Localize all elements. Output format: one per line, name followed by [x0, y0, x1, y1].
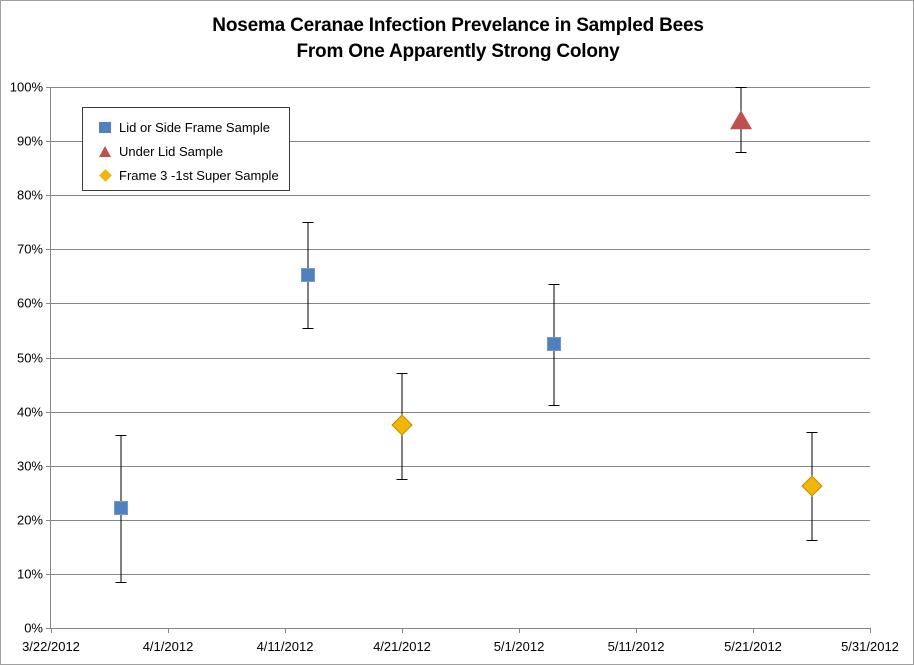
legend-item[interactable]: Frame 3 -1st Super Sample — [95, 163, 289, 187]
x-axis-label: 4/11/2012 — [257, 639, 314, 654]
y-axis-label: 40% — [17, 404, 43, 419]
data-point-marker[interactable] — [114, 501, 128, 515]
y-axis-label: 60% — [17, 296, 43, 311]
error-bar-cap — [736, 87, 747, 88]
x-axis-label: 5/31/2012 — [841, 639, 899, 654]
x-axis-tick — [753, 628, 754, 633]
gridline-horizontal — [51, 195, 870, 196]
legend-diamond-icon — [95, 171, 115, 180]
data-point-marker[interactable] — [391, 415, 412, 436]
y-axis-label: 70% — [17, 242, 43, 257]
y-axis-label: 90% — [17, 134, 43, 149]
x-axis-tick — [636, 628, 637, 633]
x-axis-tick — [519, 628, 520, 633]
legend-swatch-shape — [99, 122, 111, 133]
error-bar-cap — [806, 540, 817, 541]
y-axis-label: 50% — [17, 350, 43, 365]
chart-title-line-1: Nosema Ceranae Infection Prevelance in S… — [212, 15, 703, 36]
y-axis-tick — [46, 466, 51, 467]
legend-item[interactable]: Under Lid Sample — [95, 139, 289, 163]
y-axis-tick — [46, 574, 51, 575]
error-bar-cap — [397, 479, 408, 480]
data-point-marker[interactable] — [547, 337, 561, 351]
error-bar-cap — [116, 582, 127, 583]
legend-square-icon — [95, 122, 115, 133]
legend-triangle-icon — [95, 146, 115, 157]
x-axis-label: 3/22/2012 — [22, 639, 80, 654]
y-axis-tick — [46, 249, 51, 250]
gridline-horizontal — [51, 412, 870, 413]
data-point-marker[interactable] — [801, 476, 822, 497]
y-axis-tick — [46, 87, 51, 88]
error-bar-cap — [549, 284, 560, 285]
x-axis-label: 5/11/2012 — [608, 639, 665, 654]
error-bar-cap — [303, 328, 314, 329]
y-axis-tick — [46, 195, 51, 196]
error-bar-cap — [397, 373, 408, 374]
legend-item-label: Frame 3 -1st Super Sample — [119, 168, 279, 183]
x-axis-tick — [285, 628, 286, 633]
error-bar-cap — [116, 435, 127, 436]
y-axis-label: 10% — [17, 566, 43, 581]
y-axis-tick — [46, 358, 51, 359]
y-axis-label: 0% — [24, 621, 43, 636]
y-axis-tick — [46, 141, 51, 142]
x-axis-tick — [870, 628, 871, 633]
legend-item-label: Lid or Side Frame Sample — [119, 120, 270, 135]
x-axis-tick — [51, 628, 52, 633]
error-bar-cap — [549, 405, 560, 406]
chart-title: Nosema Ceranae Infection Prevelance in S… — [1, 13, 914, 65]
error-bar-cap — [303, 222, 314, 223]
y-axis-label: 100% — [10, 80, 43, 95]
gridline-horizontal — [51, 358, 870, 359]
gridline-horizontal — [51, 303, 870, 304]
chart-container: Nosema Ceranae Infection Prevelance in S… — [0, 0, 914, 665]
x-axis-label: 4/1/2012 — [143, 639, 194, 654]
y-axis-tick — [46, 303, 51, 304]
x-axis-tick — [402, 628, 403, 633]
y-axis-label: 20% — [17, 512, 43, 527]
y-axis-tick — [46, 412, 51, 413]
gridline-horizontal — [51, 249, 870, 250]
x-axis-label: 4/21/2012 — [373, 639, 431, 654]
gridline-horizontal — [51, 520, 870, 521]
gridline-horizontal — [51, 87, 870, 88]
error-bar-cap — [806, 432, 817, 433]
chart-legend: Lid or Side Frame SampleUnder Lid Sample… — [82, 107, 290, 191]
legend-item[interactable]: Lid or Side Frame Sample — [95, 115, 289, 139]
x-axis-tick — [168, 628, 169, 633]
y-axis-label: 30% — [17, 458, 43, 473]
y-axis-tick — [46, 520, 51, 521]
x-axis-label: 5/21/2012 — [724, 639, 782, 654]
error-bar-cap — [736, 152, 747, 153]
data-point-marker[interactable] — [730, 110, 752, 129]
legend-swatch-shape — [99, 169, 112, 182]
legend-swatch-shape — [99, 146, 111, 157]
data-point-marker[interactable] — [301, 268, 315, 282]
gridline-horizontal — [51, 466, 870, 467]
legend-item-label: Under Lid Sample — [119, 144, 223, 159]
gridline-horizontal — [51, 574, 870, 575]
y-axis-label: 80% — [17, 188, 43, 203]
x-axis-label: 5/1/2012 — [494, 639, 545, 654]
chart-title-line-2: From One Apparently Strong Colony — [1, 39, 914, 65]
